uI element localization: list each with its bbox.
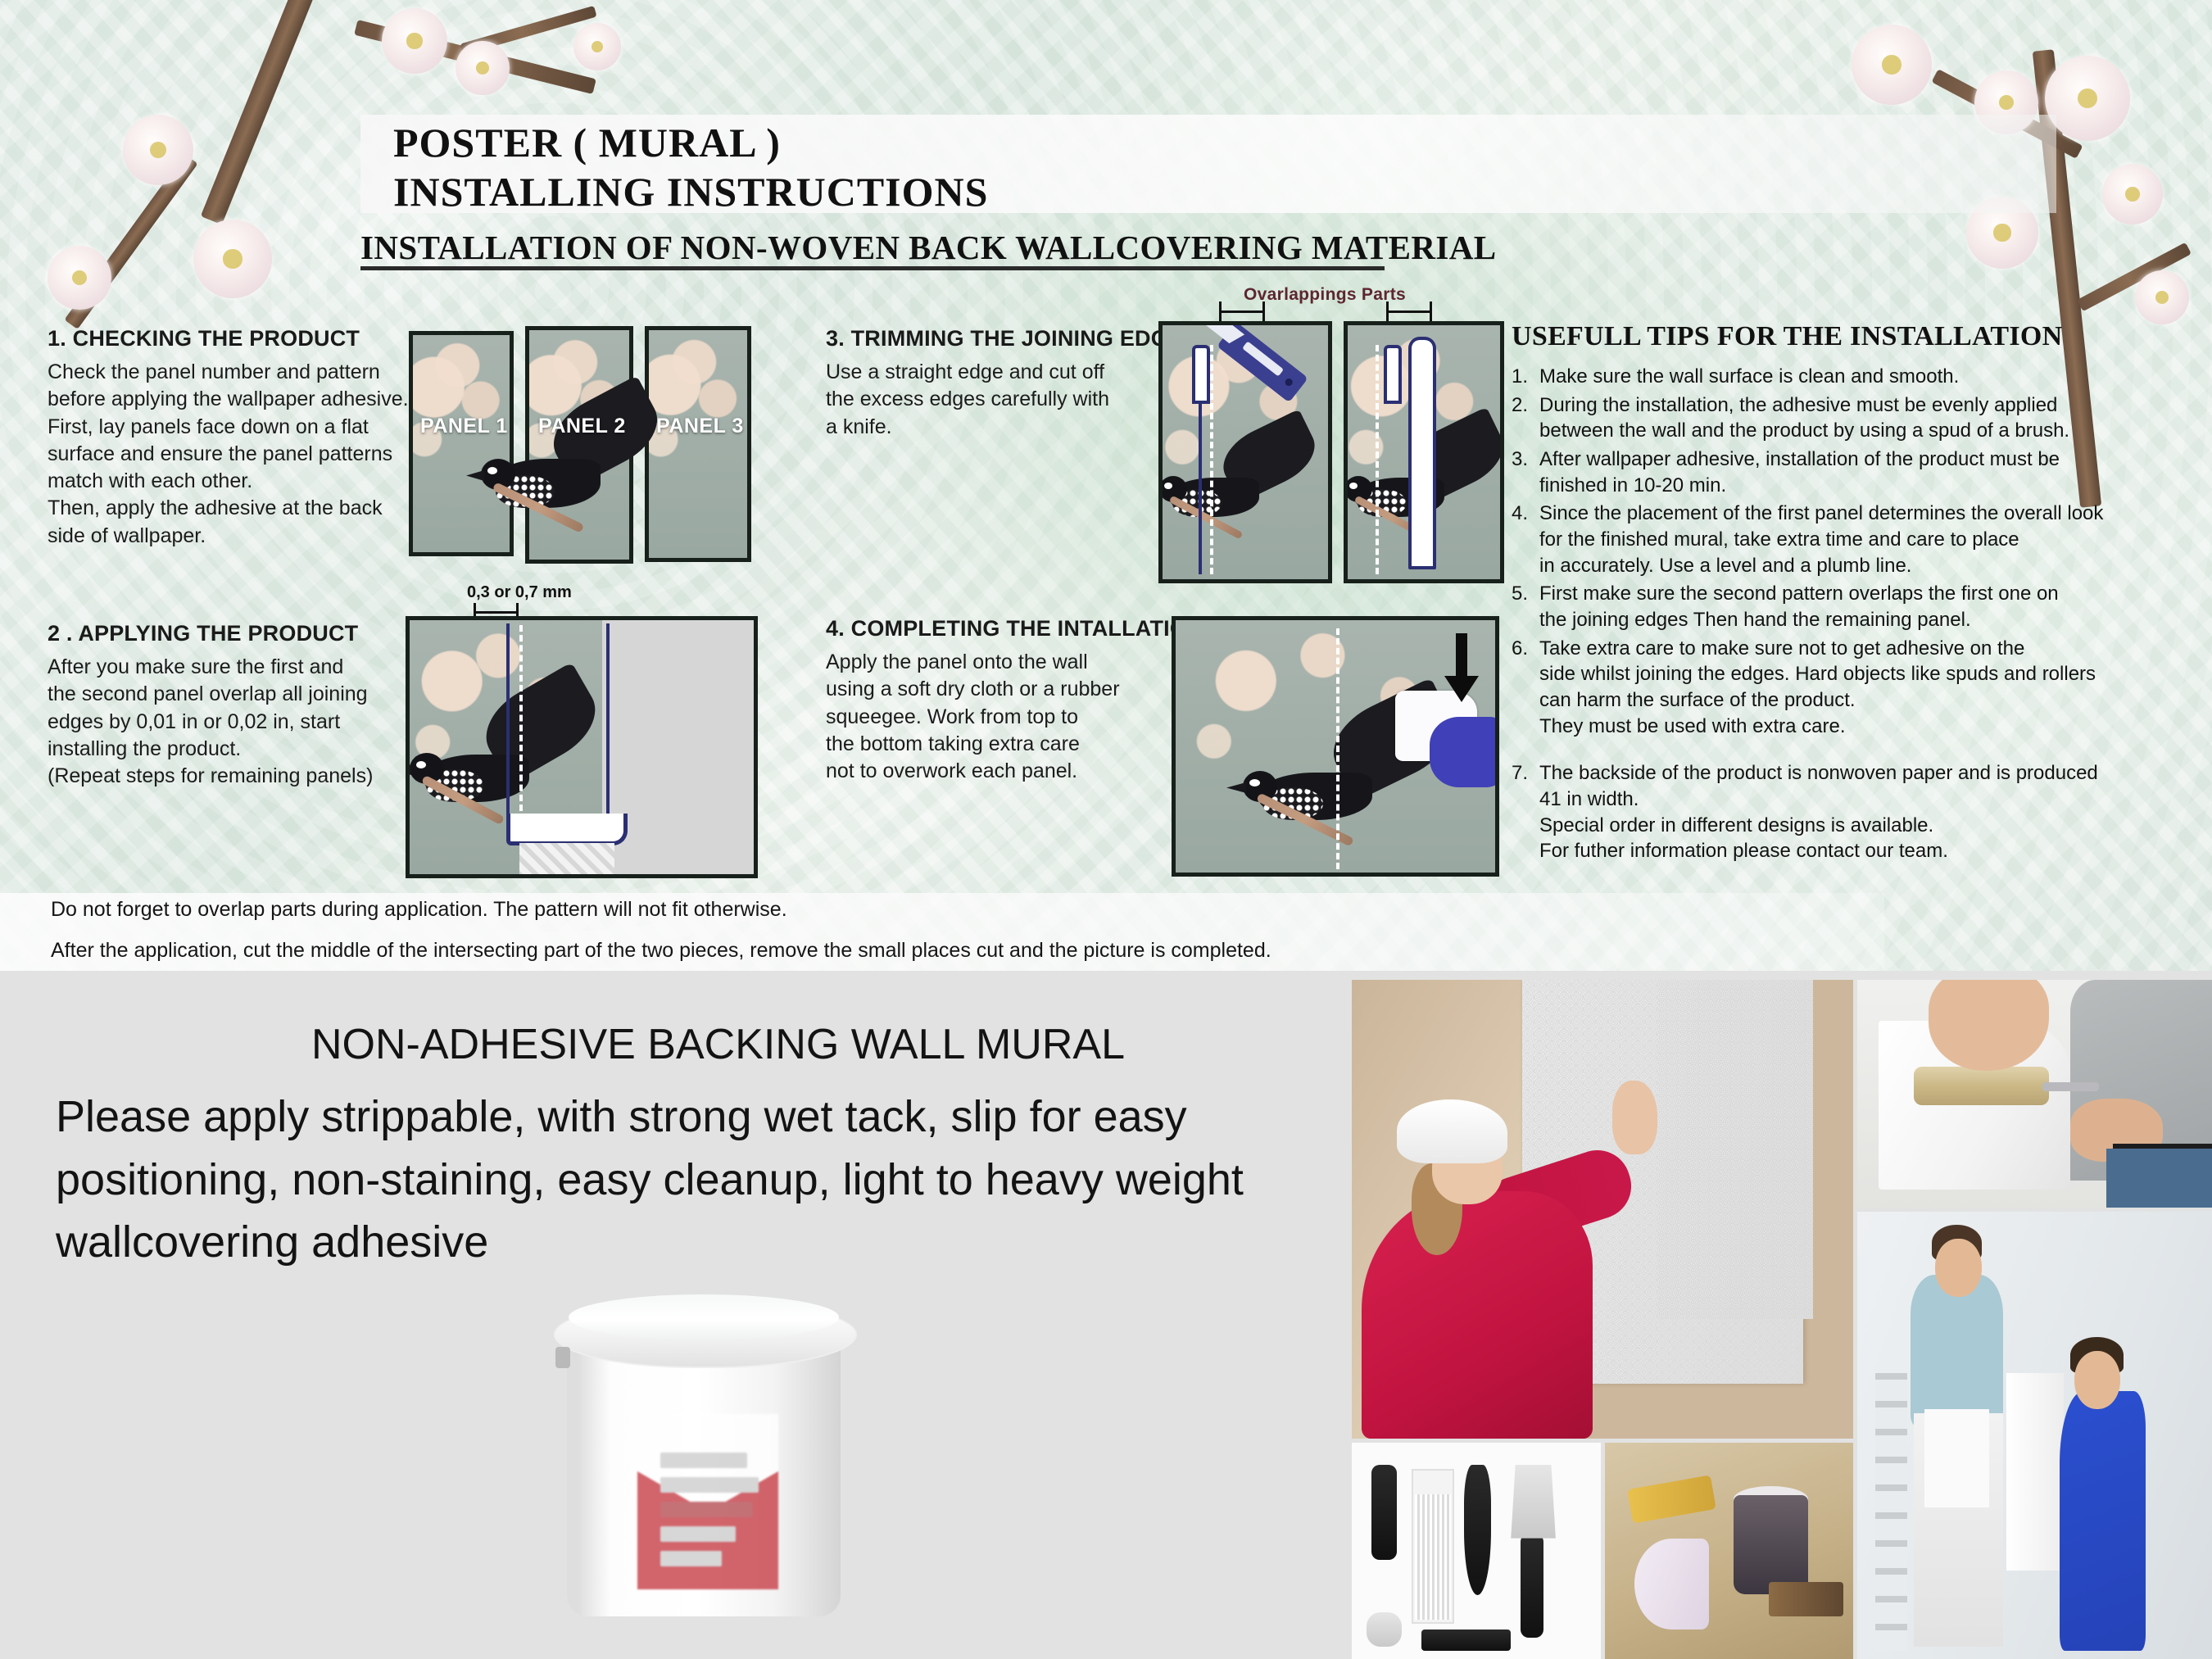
photo-tool-set xyxy=(1352,1443,1601,1659)
tip-item: 2. During the installation, the adhesive… xyxy=(1512,392,2167,444)
tip-item: 3. After wallpaper adhesive, installatio… xyxy=(1512,446,2167,498)
tip-text: First make sure the second pattern overl… xyxy=(1539,581,2059,632)
step-2-body: After you make sure the first and the se… xyxy=(48,654,433,790)
tip-item: 4. Since the placement of the first pane… xyxy=(1512,501,2167,578)
poster-root: POSTER ( MURAL ) INSTALLING INSTRUCTIONS… xyxy=(0,0,2212,1659)
step-3-line-2: the excess edges carefully with xyxy=(826,386,1170,413)
overlap-fold-shape xyxy=(506,814,628,845)
tip-number: 6. xyxy=(1512,636,1539,740)
step-1-line-6: Then, apply the adhesive at the back xyxy=(48,495,433,522)
tip-line: the joining edges Then hand the remainin… xyxy=(1539,607,2059,633)
tip-line: They must be used with extra care. xyxy=(1539,714,2096,740)
step-4-body: Apply the panel onto the wall using a so… xyxy=(826,649,1170,785)
tip-text: Take extra care to make sure not to get … xyxy=(1539,636,2096,740)
step-3-line-3: a knife. xyxy=(826,414,1170,441)
tip-line: side whilst joining the edges. Hard obje… xyxy=(1539,661,2096,687)
tip-line: for the finished mural, take extra time … xyxy=(1539,527,2103,553)
step-2-line-3: edges by 0,01 in or 0,02 in, start xyxy=(48,709,433,736)
panel-2-label: PANEL 2 xyxy=(538,415,626,438)
down-arrow-icon xyxy=(1443,633,1480,704)
gloved-hand xyxy=(1430,717,1499,787)
step-4-line-2: using a soft dry cloth or a rubber xyxy=(826,676,1170,703)
tip-line: can harm the surface of the product. xyxy=(1539,687,2096,714)
step-4-block: 4. COMPLETING THE INTALLATION Apply the … xyxy=(826,616,1170,785)
footnote-line-1: Do not forget to overlap parts during ap… xyxy=(51,898,787,922)
step-2-line-5: (Repeat steps for remaining panels) xyxy=(48,763,433,790)
bottom-title: NON-ADHESIVE BACKING WALL MURAL xyxy=(311,1020,1125,1069)
straight-edge-tool xyxy=(1192,345,1210,404)
tip-text: The backside of the product is nonwoven … xyxy=(1539,760,2098,864)
tips-block: USEFULL TIPS FOR THE INSTALLATION 1. Mak… xyxy=(1512,321,2167,867)
step-3-line-1: Use a straight edge and cut off xyxy=(826,359,1170,386)
photo-column-right xyxy=(1857,980,2212,1659)
adhesive-bucket-image xyxy=(547,1283,860,1627)
tip-line: Since the placement of the first panel d… xyxy=(1539,501,2103,527)
step-3-heading: 3. TRIMMING THE JOINING EDGES xyxy=(826,326,1170,351)
step-1-line-1: Check the panel number and pattern xyxy=(48,359,433,386)
step-1-line-4: surface and ensure the panel patterns xyxy=(48,441,433,468)
tip-number: 1. xyxy=(1512,364,1539,390)
tip-text: Since the placement of the first panel d… xyxy=(1539,501,2103,578)
tip-line: First make sure the second pattern overl… xyxy=(1539,581,2059,607)
step-2-line-1: After you make sure the first and xyxy=(48,654,433,681)
diagram-step-2-overlap xyxy=(406,616,758,878)
tip-text: Make sure the wall surface is clean and … xyxy=(1539,364,1959,390)
photo-two-people-installing xyxy=(1857,1212,2212,1659)
panel-1-label: PANEL 1 xyxy=(420,415,508,438)
tip-line: The backside of the product is nonwoven … xyxy=(1539,760,2098,786)
tip-item: 7. The backside of the product is nonwov… xyxy=(1512,760,2167,864)
step-3-block: 3. TRIMMING THE JOINING EDGES Use a stra… xyxy=(826,326,1170,441)
step-1-line-5: match with each other. xyxy=(48,468,433,495)
dimension-label-overlap: 0,3 or 0,7 mm xyxy=(467,583,572,602)
page-title-line1: POSTER ( MURAL ) xyxy=(393,119,781,166)
tip-line: During the installation, the adhesive mu… xyxy=(1539,392,2069,419)
bottom-body-line-1: Please apply strippable, with strong wet… xyxy=(56,1086,1334,1149)
utility-knife-icon xyxy=(1217,322,1308,403)
overlap-edge-line xyxy=(506,623,510,828)
tip-line: After wallpaper adhesive, installation o… xyxy=(1539,446,2060,473)
footnote-line-2: After the application, cut the middle of… xyxy=(51,939,1271,963)
tip-line: Make sure the wall surface is clean and … xyxy=(1539,364,1959,390)
photo-woman-hanging-wallpaper xyxy=(1352,980,1853,1439)
step-1-block: 1. CHECKING THE PRODUCT Check the panel … xyxy=(48,326,433,550)
step-1-line-7: side of wallpaper. xyxy=(48,523,433,550)
overlap-hatch-area xyxy=(519,843,614,877)
tip-line: between the wall and the product by usin… xyxy=(1539,418,2069,444)
tip-item: 5. First make sure the second pattern ov… xyxy=(1512,581,2167,632)
step-2-heading: 2 . APPLYING THE PRODUCT xyxy=(48,621,433,646)
tip-line: For futher information please contact ou… xyxy=(1539,838,2098,864)
step-4-line-1: Apply the panel onto the wall xyxy=(826,649,1170,676)
bottom-body: Please apply strippable, with strong wet… xyxy=(56,1086,1334,1274)
bucket-lid-top xyxy=(569,1294,839,1340)
panel-3-label: PANEL 3 xyxy=(656,415,744,438)
instructions-section: POSTER ( MURAL ) INSTALLING INSTRUCTIONS… xyxy=(0,0,2212,971)
tip-line: Take extra care to make sure not to get … xyxy=(1539,636,2096,662)
tip-item: 1. Make sure the wall surface is clean a… xyxy=(1512,364,2167,390)
overlapping-parts-label: Ovarlappings Parts xyxy=(1244,285,1406,305)
tip-line: 41 in width. xyxy=(1539,786,2098,813)
tip-line: in accurately. Use a level and a plumb l… xyxy=(1539,553,2103,579)
step-3-body: Use a straight edge and cut off the exce… xyxy=(826,359,1170,441)
tip-line: Special order in different designs is av… xyxy=(1539,813,2098,839)
bird-illustration-knife xyxy=(1158,448,1330,546)
step-4-line-3: squeegee. Work from top to xyxy=(826,704,1170,731)
photo-collage xyxy=(1352,980,2209,1656)
step-2-block: 2 . APPLYING THE PRODUCT After you make … xyxy=(48,621,433,790)
bucket-handle xyxy=(555,1347,570,1368)
step-1-heading: 1. CHECKING THE PRODUCT xyxy=(48,326,433,351)
long-straight-edge xyxy=(1408,337,1436,569)
step-4-heading: 4. COMPLETING THE INTALLATION xyxy=(826,616,1170,641)
bucket-label xyxy=(637,1414,778,1589)
tip-item: 6. Take extra care to make sure not to g… xyxy=(1512,636,2167,740)
diagram-step-4-squeegee xyxy=(1172,616,1499,877)
tip-number: 7. xyxy=(1512,760,1539,864)
subtitle-underline xyxy=(360,266,1385,270)
step-1-body: Check the panel number and pattern befor… xyxy=(48,359,433,550)
diagram-step-1-panels: PANEL 1 PANEL 2 PANEL 3 xyxy=(406,326,766,572)
step-2-line-2: the second panel overlap all joining xyxy=(48,681,433,708)
bottom-body-line-2: positioning, non-staining, easy cleanup,… xyxy=(56,1149,1334,1212)
step-4-line-5: not to overwork each panel. xyxy=(826,758,1170,785)
tip-number: 4. xyxy=(1512,501,1539,578)
tip-number: 5. xyxy=(1512,581,1539,632)
bottom-body-line-3: wallcovering adhesive xyxy=(56,1211,1334,1274)
step-2-line-4: installing the product. xyxy=(48,736,433,763)
bird-illustration xyxy=(476,424,673,539)
tip-text: After wallpaper adhesive, installation o… xyxy=(1539,446,2060,498)
diagram-step-3-straightedge xyxy=(1344,321,1504,583)
step-1-line-2: before applying the wallpaper adhesive. xyxy=(48,386,433,413)
page-title-line2: INSTALLING INSTRUCTIONS xyxy=(393,168,988,215)
photo-tools-on-table xyxy=(1605,1443,1854,1659)
photo-roller-applying-paste xyxy=(1857,980,2212,1208)
diagram-step-3-knife xyxy=(1158,321,1332,583)
tip-line: finished in 10-20 min. xyxy=(1539,473,2060,499)
photo-row-bottom-left xyxy=(1352,1443,1853,1659)
tip-number: 3. xyxy=(1512,446,1539,498)
straight-edge-tool-2 xyxy=(1384,345,1402,404)
step-1-line-3: First, lay panels face down on a flat xyxy=(48,414,433,441)
tips-heading: USEFULL TIPS FOR THE INSTALLATION xyxy=(1512,321,2167,352)
tip-number: 2. xyxy=(1512,392,1539,444)
step-4-line-4: the bottom taking extra care xyxy=(826,731,1170,758)
tip-text: During the installation, the adhesive mu… xyxy=(1539,392,2069,444)
